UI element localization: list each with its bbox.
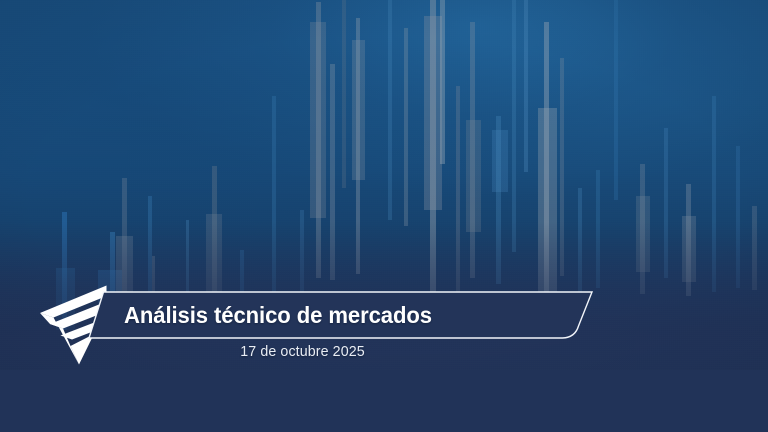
background-bar	[342, 0, 346, 188]
background-bar	[492, 130, 508, 192]
background-bar	[440, 0, 445, 164]
background-bar	[614, 0, 618, 200]
page-title: Análisis técnico de mercados	[124, 291, 432, 339]
background-bar	[388, 0, 392, 220]
background-bar	[352, 40, 365, 180]
footer-band	[0, 370, 768, 432]
slide-date: 17 de octubre 2025	[15, 343, 590, 360]
background-bar	[310, 22, 326, 218]
background-bar	[512, 0, 516, 252]
background-bar	[404, 28, 408, 226]
title-banner: Análisis técnico de mercados	[88, 291, 593, 339]
background-bar	[524, 0, 528, 172]
slide-root: Análisis técnico de mercados 17 de octub…	[0, 0, 768, 432]
background-bar	[466, 120, 481, 232]
